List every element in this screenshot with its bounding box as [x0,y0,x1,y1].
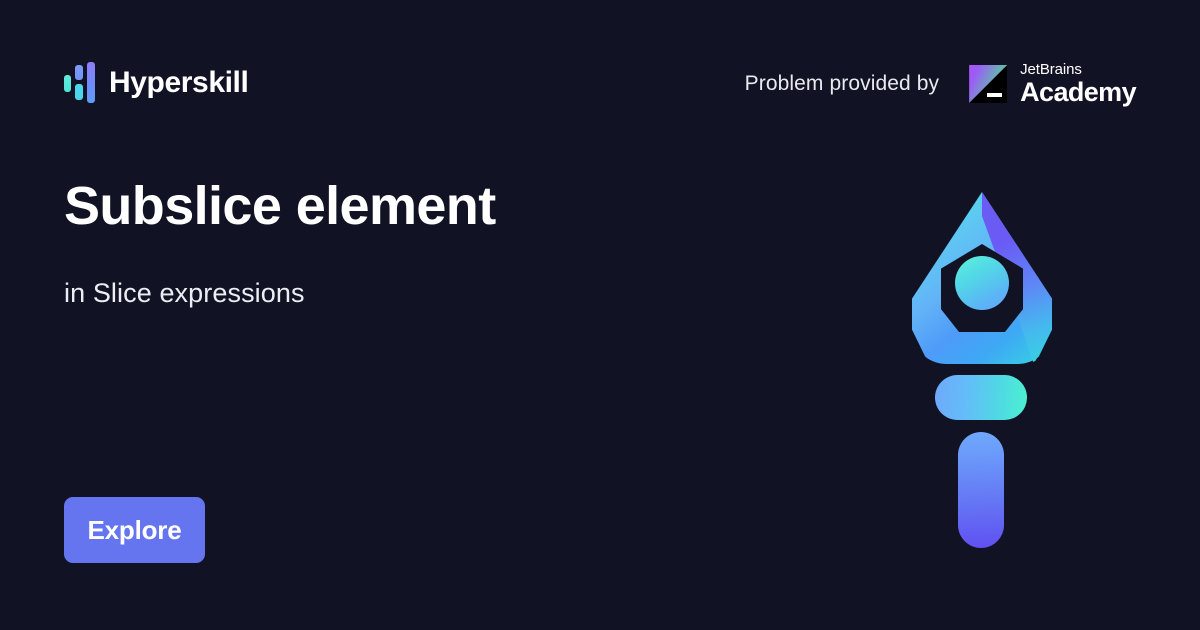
page-title: Subslice element [64,175,496,237]
hyperskill-bar-2 [75,65,83,80]
torch-head [912,192,1052,364]
jetbrains-wordmark-line2: Academy [1020,79,1136,106]
social-preview-card: Hyperskill Problem provided by JetBrains… [0,0,1200,630]
hyperskill-brand[interactable]: Hyperskill [64,60,248,106]
torch-center-circle [955,256,1009,310]
attribution-label: Problem provided by [745,72,940,96]
jetbrains-wordmark-line1: JetBrains [1020,62,1136,77]
jetbrains-dash-mark [987,93,1002,97]
jetbrains-academy-logo[interactable]: JetBrains Academy [969,62,1136,106]
brand-name: Hyperskill [109,68,248,98]
attribution-block: Problem provided by JetBrains Academy [745,58,1136,110]
jetbrains-academy-torch-icon [895,180,1070,560]
jetbrains-academy-wordmark: JetBrains Academy [1020,62,1136,106]
hyperskill-bar-4 [87,62,95,103]
torch-vertical-bar [958,432,1004,548]
hyperskill-bar-1 [64,75,71,92]
hyperskill-bars-icon [64,62,94,104]
header: Hyperskill Problem provided by JetBrains… [0,0,1200,140]
jetbrains-square-icon [969,65,1007,103]
torch-horizontal-pill [935,375,1027,420]
explore-button[interactable]: Explore [64,497,205,563]
hyperskill-bar-3 [75,84,83,100]
page-subtitle: in Slice expressions [64,277,305,309]
jetbrains-gradient-triangle [969,65,1007,103]
